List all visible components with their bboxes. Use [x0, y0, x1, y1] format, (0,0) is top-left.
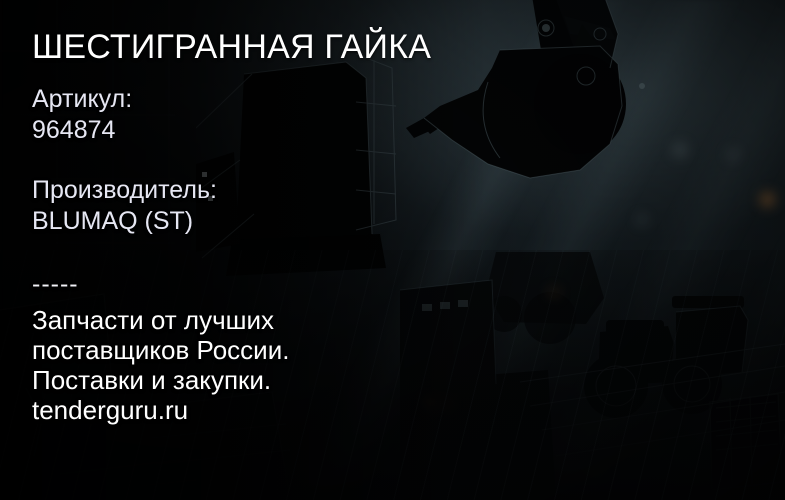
bokeh-light-cool-a [672, 142, 688, 158]
text-divider: ----- [32, 272, 79, 297]
bokeh-light-warm [760, 192, 775, 207]
field-sku: Артикул: 964874 [32, 84, 472, 146]
promo-line: Запчасти от лучших [32, 305, 472, 335]
bokeh-light-warm-d [548, 288, 560, 298]
promo-line: поставщиков России. [32, 335, 472, 365]
field-manufacturer-value: BLUMAQ (ST) [32, 206, 472, 237]
promo-line: Поставки и закупки. [32, 365, 472, 395]
bokeh-light-cool-b [726, 148, 739, 161]
card-content: ШЕСТИГРАННАЯ ГАЙКА Артикул: 964874 Произ… [32, 0, 502, 500]
bokeh-light-cool-c [636, 214, 648, 226]
field-sku-label: Артикул: [32, 84, 472, 115]
bokeh-light-cool-d [588, 468, 606, 480]
promo-site: tenderguru.ru [32, 395, 472, 425]
page-title: ШЕСТИГРАННАЯ ГАЙКА [32, 27, 431, 67]
product-card: ШЕСТИГРАННАЯ ГАЙКА Артикул: 964874 Произ… [0, 0, 785, 500]
field-manufacturer-label: Производитель: [32, 175, 472, 206]
promo-block: Запчасти от лучших поставщиков России. П… [32, 305, 472, 425]
field-sku-value: 964874 [32, 115, 472, 146]
field-manufacturer: Производитель: BLUMAQ (ST) [32, 175, 472, 237]
